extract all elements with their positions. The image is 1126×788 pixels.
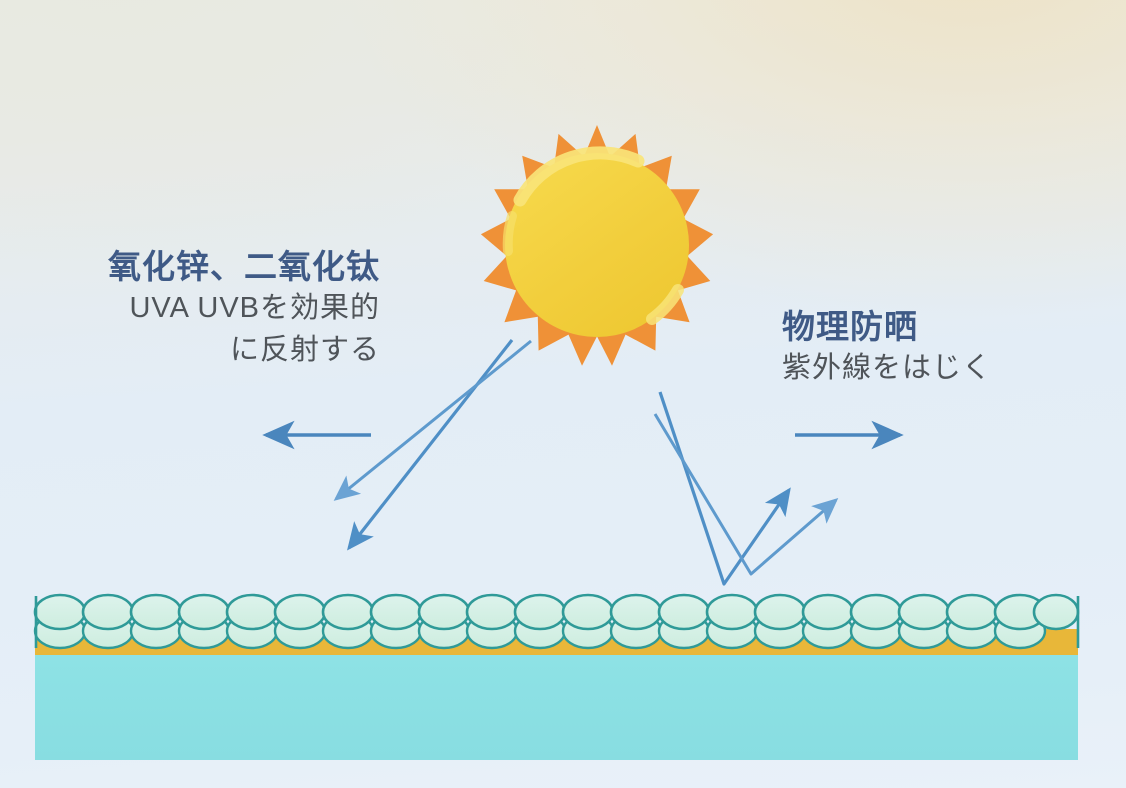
right-annotation-heading: 物理防晒 <box>782 306 1082 347</box>
right-annotation-line2: 紫外線をはじく <box>782 347 1082 389</box>
left-annotation-line3: に反射する <box>50 329 380 371</box>
left-annotation-heading: 氧化锌、二氧化钛 <box>50 246 380 287</box>
left-annotation: 氧化锌、二氧化钛 UVA UVBを効果的 に反射する <box>50 246 380 371</box>
skin-cell-row-upper <box>35 595 1078 629</box>
right-reflection-path-2 <box>655 414 836 574</box>
left-annotation-line2: UVA UVBを効果的 <box>50 287 380 329</box>
right-annotation: 物理防晒 紫外線をはじく <box>782 306 1082 389</box>
sun-highlight-left <box>508 216 512 251</box>
sun-icon <box>481 125 713 366</box>
right-reflection-path-1 <box>660 392 789 584</box>
illustration-svg <box>0 0 1126 788</box>
skin-cross-section <box>35 595 1078 760</box>
right-ray-group <box>655 392 836 584</box>
illustration-canvas: 氧化锌、二氧化钛 UVA UVBを効果的 に反射する 物理防晒 紫外線をはじく <box>0 0 1126 788</box>
